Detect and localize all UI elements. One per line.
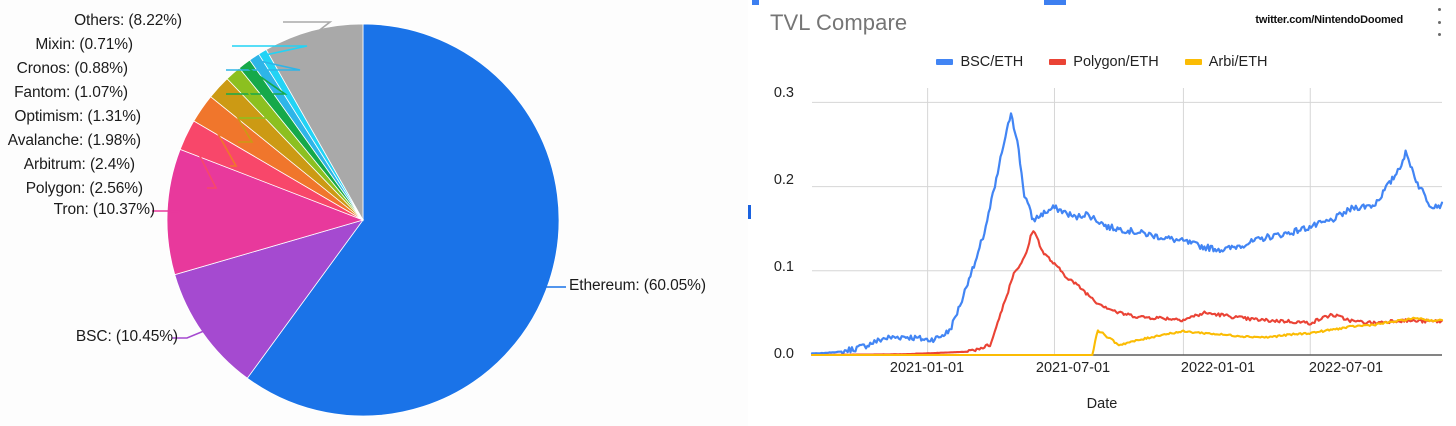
plot-area-wrapper: 0.0 0.1 0.2 0.3 2021-01-01 2021-07-01 20…	[748, 0, 1456, 426]
pie-leader-line-tron	[152, 211, 182, 212]
pie-chart-panel: Others: (8.22%) Mixin: (0.71%) Cronos: (…	[0, 0, 748, 426]
pie-label-polygon: Polygon: (2.56%)	[26, 180, 143, 198]
pie-label-bsc: BSC: (10.45%)	[76, 328, 178, 346]
pie-label-arbitrum: Arbitrum: (2.4%)	[24, 156, 135, 174]
pie-label-cronos: Cronos: (0.88%)	[17, 60, 128, 78]
pie-label-tron: Tron: (10.37%)	[54, 201, 155, 219]
line-chart-panel: TVL Compare twitter.com/NintendoDoomed B…	[748, 0, 1456, 426]
x-tick-label-0: 2021-01-01	[890, 360, 964, 376]
x-tick-label-3: 2022-07-01	[1309, 360, 1383, 376]
pie-label-others: Others: (8.22%)	[74, 12, 182, 30]
pie-label-mixin: Mixin: (0.71%)	[35, 36, 133, 54]
pie-label-fantom: Fantom: (1.07%)	[14, 84, 128, 102]
y-tick-label-1: 0.1	[742, 259, 794, 275]
x-tick-label-2: 2022-01-01	[1181, 360, 1255, 376]
pie-label-avalanche: Avalanche: (1.98%)	[8, 132, 141, 150]
pie-label-optimism: Optimism: (1.31%)	[14, 108, 141, 126]
y-tick-label-3: 0.3	[742, 85, 794, 101]
x-tick-label-1: 2021-07-01	[1036, 360, 1110, 376]
pie-label-ethereum: Ethereum: (60.05%)	[569, 277, 706, 295]
y-tick-label-2: 0.2	[742, 172, 794, 188]
x-axis-title: Date	[748, 396, 1456, 412]
screenshot-root: Others: (8.22%) Mixin: (0.71%) Cronos: (…	[0, 0, 1456, 426]
y-tick-label-0: 0.0	[742, 346, 794, 362]
